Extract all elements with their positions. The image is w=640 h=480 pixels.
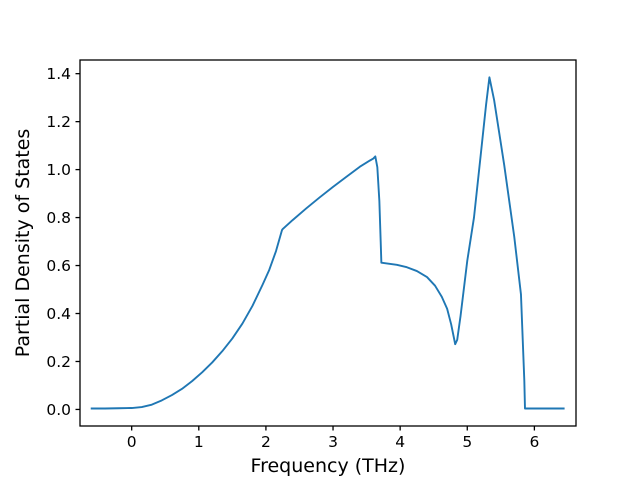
y-tick-label: 1.2: [46, 113, 71, 131]
x-tick-label: 0: [127, 433, 137, 451]
x-tick-label: 3: [328, 433, 338, 451]
x-tick-label: 4: [395, 433, 405, 451]
x-tick-label: 6: [529, 433, 539, 451]
x-tick-label: 2: [261, 433, 271, 451]
y-tick-label: 0.2: [46, 353, 71, 371]
axes-background: [80, 60, 576, 426]
y-axis-label: Partial Density of States: [12, 129, 34, 358]
x-axis-label: Frequency (THz): [251, 455, 406, 477]
y-tick-label: 0.6: [46, 257, 71, 275]
y-tick-label: 0.8: [46, 209, 71, 227]
y-tick-label: 1.0: [46, 161, 71, 179]
x-tick-label: 5: [462, 433, 472, 451]
y-tick-label: 1.4: [46, 65, 71, 83]
y-tick-label: 0.4: [46, 305, 71, 323]
y-tick-label: 0.0: [46, 401, 71, 419]
x-tick-label: 1: [194, 433, 204, 451]
plot-canvas: 0123456 0.00.20.40.60.81.01.21.4 Frequen…: [0, 0, 640, 480]
matplotlib-figure: 0123456 0.00.20.40.60.81.01.21.4 Frequen…: [0, 0, 640, 480]
